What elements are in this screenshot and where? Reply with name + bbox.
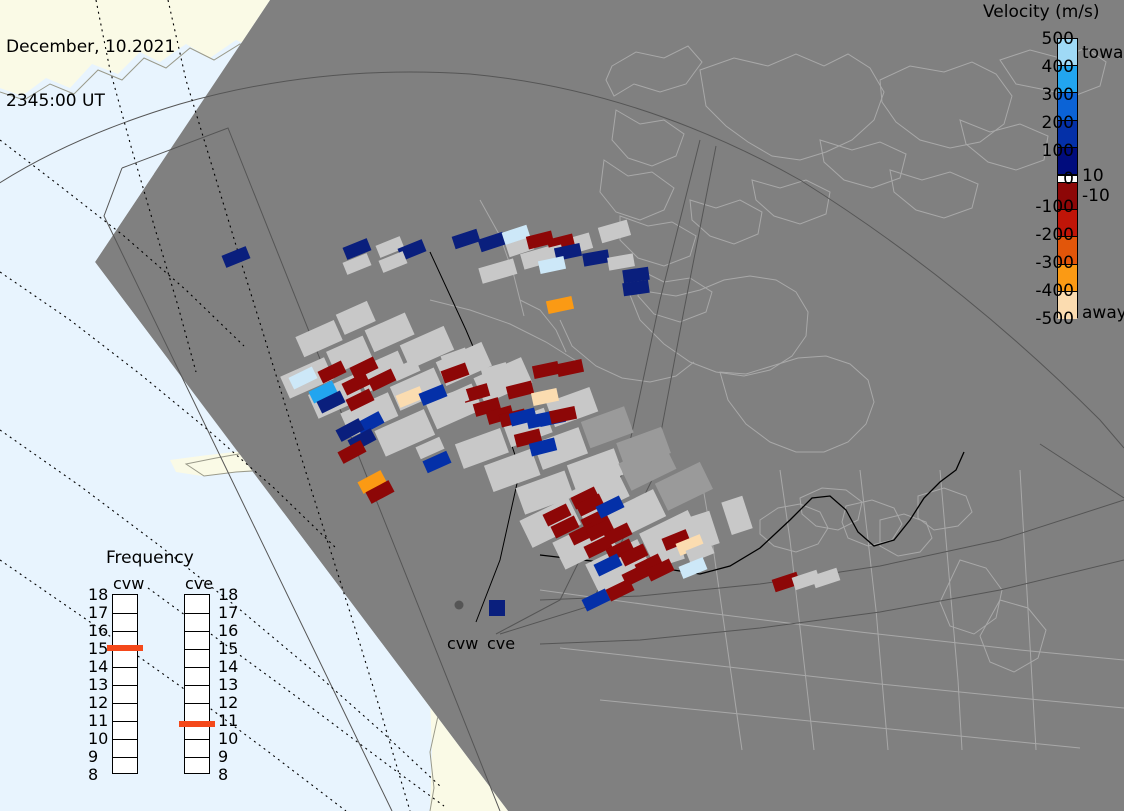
frequency-notch <box>185 757 209 758</box>
velocity-colorbar: Velocity (m/s) 5004003002001000-100-200-… <box>977 0 1124 330</box>
time-label: 2345:00 UT <box>6 92 175 110</box>
frequency-notch <box>113 667 137 668</box>
frequency-tick-15: 15 <box>88 639 108 658</box>
frequency-notch <box>185 685 209 686</box>
frequency-tick-11: 11 <box>218 711 238 730</box>
frequency-tick-8: 8 <box>218 765 228 784</box>
frequency-tick-10: 10 <box>218 729 238 748</box>
frequency-tick-8: 8 <box>88 765 98 784</box>
frequency-notch <box>113 739 137 740</box>
frequency-name-cvw: cvw <box>113 574 144 593</box>
frequency-tick-12: 12 <box>218 693 238 712</box>
frequency-tick-10: 10 <box>88 729 108 748</box>
radar-map-screenshot: December, 10.2021 2345:00 UT cvw cve Vel… <box>0 0 1124 811</box>
frequency-tick-11: 11 <box>88 711 108 730</box>
frequency-notch <box>185 613 209 614</box>
frequency-legend: Frequency cvw 18171615141312111098 cve 1… <box>88 548 238 788</box>
frequency-name-cve: cve <box>185 574 213 593</box>
frequency-tick-16: 16 <box>218 621 238 640</box>
colorbar-tick--200: -200 <box>1014 225 1074 245</box>
frequency-tick-18: 18 <box>88 585 108 604</box>
frequency-notch <box>185 631 209 632</box>
frequency-title: Frequency <box>106 548 194 568</box>
frequency-tick-16: 16 <box>88 621 108 640</box>
frequency-notch <box>185 703 209 704</box>
frequency-notch <box>185 649 209 650</box>
frequency-notch <box>113 613 137 614</box>
colorbar-tick-100: 100 <box>1014 141 1074 161</box>
frequency-notch <box>113 757 137 758</box>
colorbar-minus10-label: -10 <box>1082 186 1110 206</box>
site-label-cve: cve <box>487 634 515 653</box>
colorbar-tick--100: -100 <box>1014 197 1074 217</box>
date-label: December, 10.2021 <box>6 38 175 56</box>
timestamp-block: December, 10.2021 2345:00 UT <box>6 2 175 146</box>
frequency-marker-cve <box>179 721 215 727</box>
radar-site-dot-cvw <box>455 601 464 610</box>
colorbar-tick-0: 0 <box>1014 169 1074 189</box>
frequency-tick-17: 17 <box>88 603 108 622</box>
radar-site-dot-cve <box>489 600 505 616</box>
frequency-notch <box>113 721 137 722</box>
colorbar-tick--300: -300 <box>1014 253 1074 273</box>
frequency-tick-13: 13 <box>218 675 238 694</box>
site-label-cvw: cvw <box>447 634 478 653</box>
frequency-notch <box>185 739 209 740</box>
frequency-bar-cvw <box>112 594 138 774</box>
frequency-tick-14: 14 <box>218 657 238 676</box>
colorbar-tick--500: -500 <box>1014 309 1074 329</box>
frequency-notch <box>185 667 209 668</box>
frequency-marker-cvw <box>107 645 143 651</box>
colorbar-toward-label: toward <box>1082 43 1124 63</box>
colorbar-plus10-label: 10 <box>1082 166 1104 186</box>
colorbar-tick-400: 400 <box>1014 57 1074 77</box>
frequency-bar-cve <box>184 594 210 774</box>
colorbar-tick-300: 300 <box>1014 85 1074 105</box>
colorbar-tick--400: -400 <box>1014 281 1074 301</box>
frequency-notch <box>113 631 137 632</box>
frequency-tick-9: 9 <box>88 747 98 766</box>
frequency-notch <box>113 703 137 704</box>
frequency-tick-15: 15 <box>218 639 238 658</box>
colorbar-tick-500: 500 <box>1014 29 1074 49</box>
frequency-notch <box>113 685 137 686</box>
frequency-tick-17: 17 <box>218 603 238 622</box>
frequency-tick-9: 9 <box>218 747 228 766</box>
frequency-tick-18: 18 <box>218 585 238 604</box>
frequency-tick-14: 14 <box>88 657 108 676</box>
colorbar-away-label: away <box>1082 303 1124 323</box>
frequency-tick-12: 12 <box>88 693 108 712</box>
colorbar-title: Velocity (m/s) <box>983 2 1100 22</box>
colorbar-tick-200: 200 <box>1014 113 1074 133</box>
frequency-tick-13: 13 <box>88 675 108 694</box>
